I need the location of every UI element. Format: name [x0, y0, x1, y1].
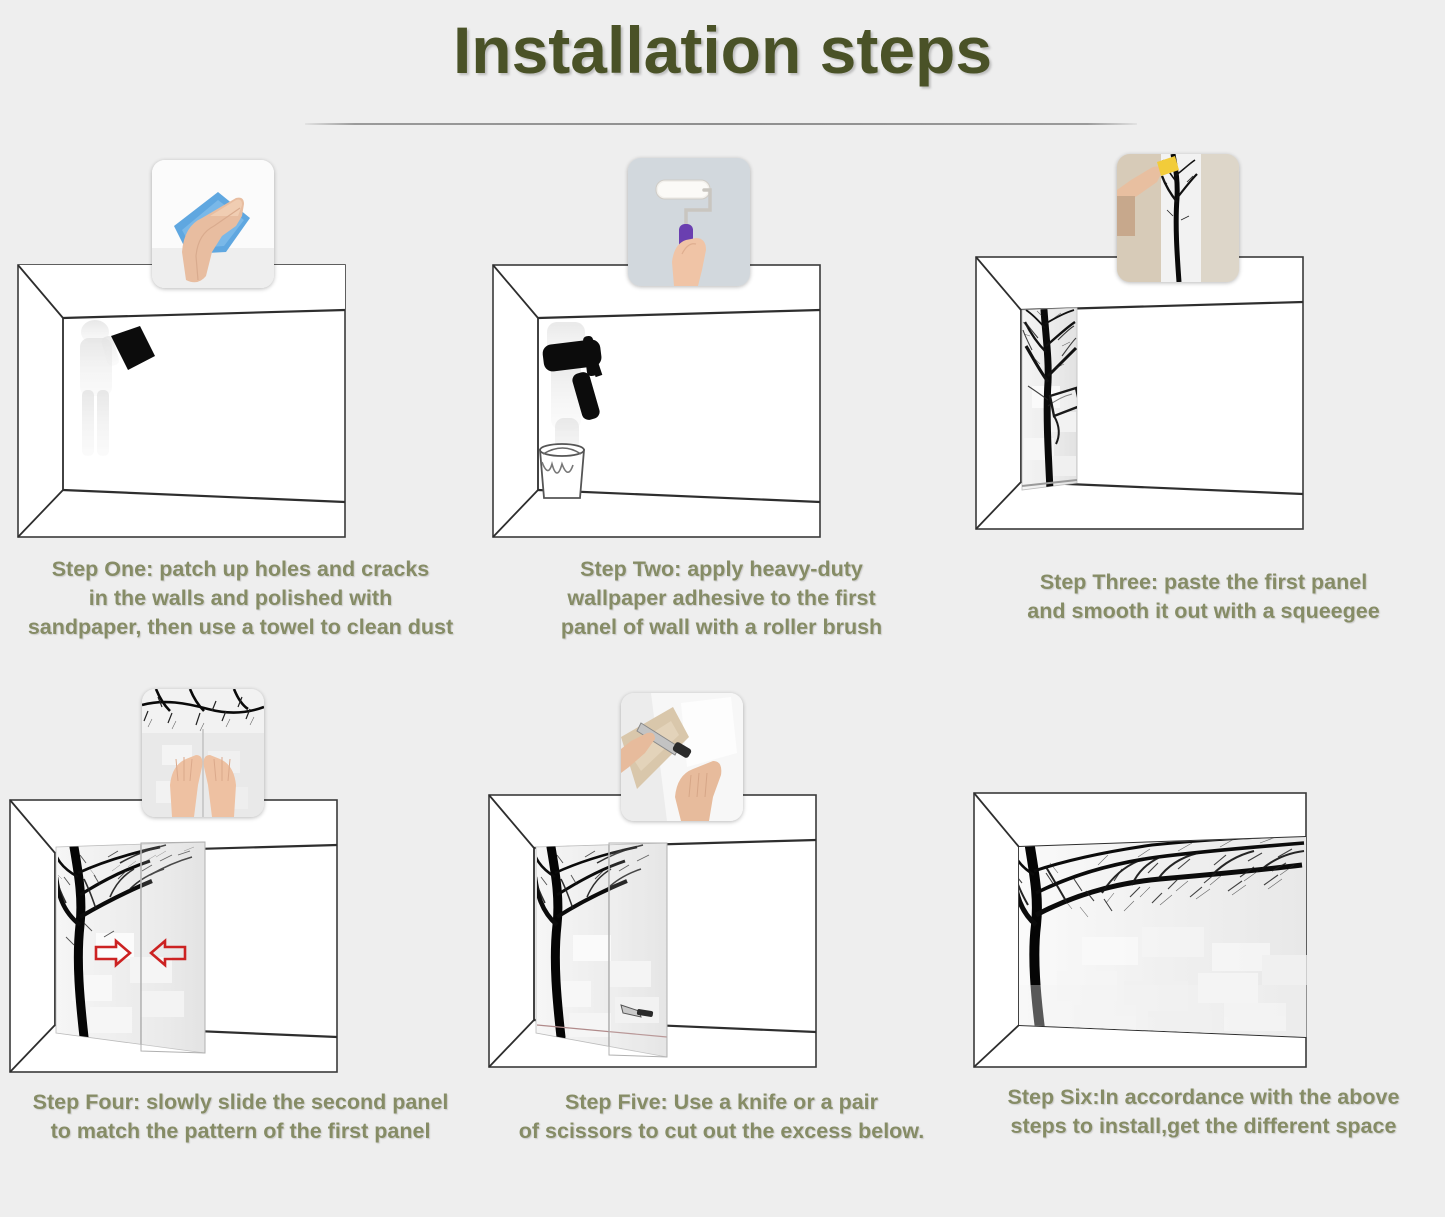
installation-steps-grid: Step One: patch up holes and cracks in t…	[0, 150, 1445, 1217]
step-one-caption: Step One: patch up holes and cracks in t…	[0, 555, 481, 642]
step-card-one: Step One: patch up holes and cracks in t…	[0, 150, 481, 685]
paint-bucket-icon	[540, 444, 584, 498]
wallpaper-panels-trimming	[533, 843, 667, 1057]
completed-mural	[1012, 835, 1309, 1037]
inset-photo-step-two	[628, 158, 750, 286]
step-two-caption: Step Two: apply heavy-duty wallpaper adh…	[481, 555, 962, 642]
step-card-five: Step Five: Use a knife or a pair of scis…	[481, 685, 962, 1217]
step-four-caption: Step Four: slowly slide the second panel…	[0, 1088, 481, 1146]
wallpaper-panel-1	[1022, 308, 1080, 490]
step-card-two: Step Two: apply heavy-duty wallpaper adh…	[481, 150, 962, 685]
room-diagram-step-six	[962, 685, 1445, 1085]
step-six-illustration	[962, 685, 1445, 1085]
step-six-caption: Step Six:In accordance with the above st…	[962, 1083, 1445, 1141]
step-five-caption: Step Five: Use a knife or a pair of scis…	[481, 1088, 962, 1146]
inset-photo-step-three	[1117, 154, 1239, 282]
page-title: Installation steps	[0, 0, 1445, 90]
inset-photo-step-four	[142, 689, 264, 817]
step-card-six: Step Six:In accordance with the above st…	[962, 685, 1445, 1217]
step-card-four: Step Four: slowly slide the second panel…	[0, 685, 481, 1217]
step-card-three: Step Three: paste the first panel and sm…	[962, 150, 1445, 685]
inset-photo-step-five	[621, 693, 743, 821]
step-three-caption: Step Three: paste the first panel and sm…	[962, 568, 1445, 626]
title-divider	[305, 123, 1137, 125]
inset-photo-step-one	[152, 160, 274, 288]
